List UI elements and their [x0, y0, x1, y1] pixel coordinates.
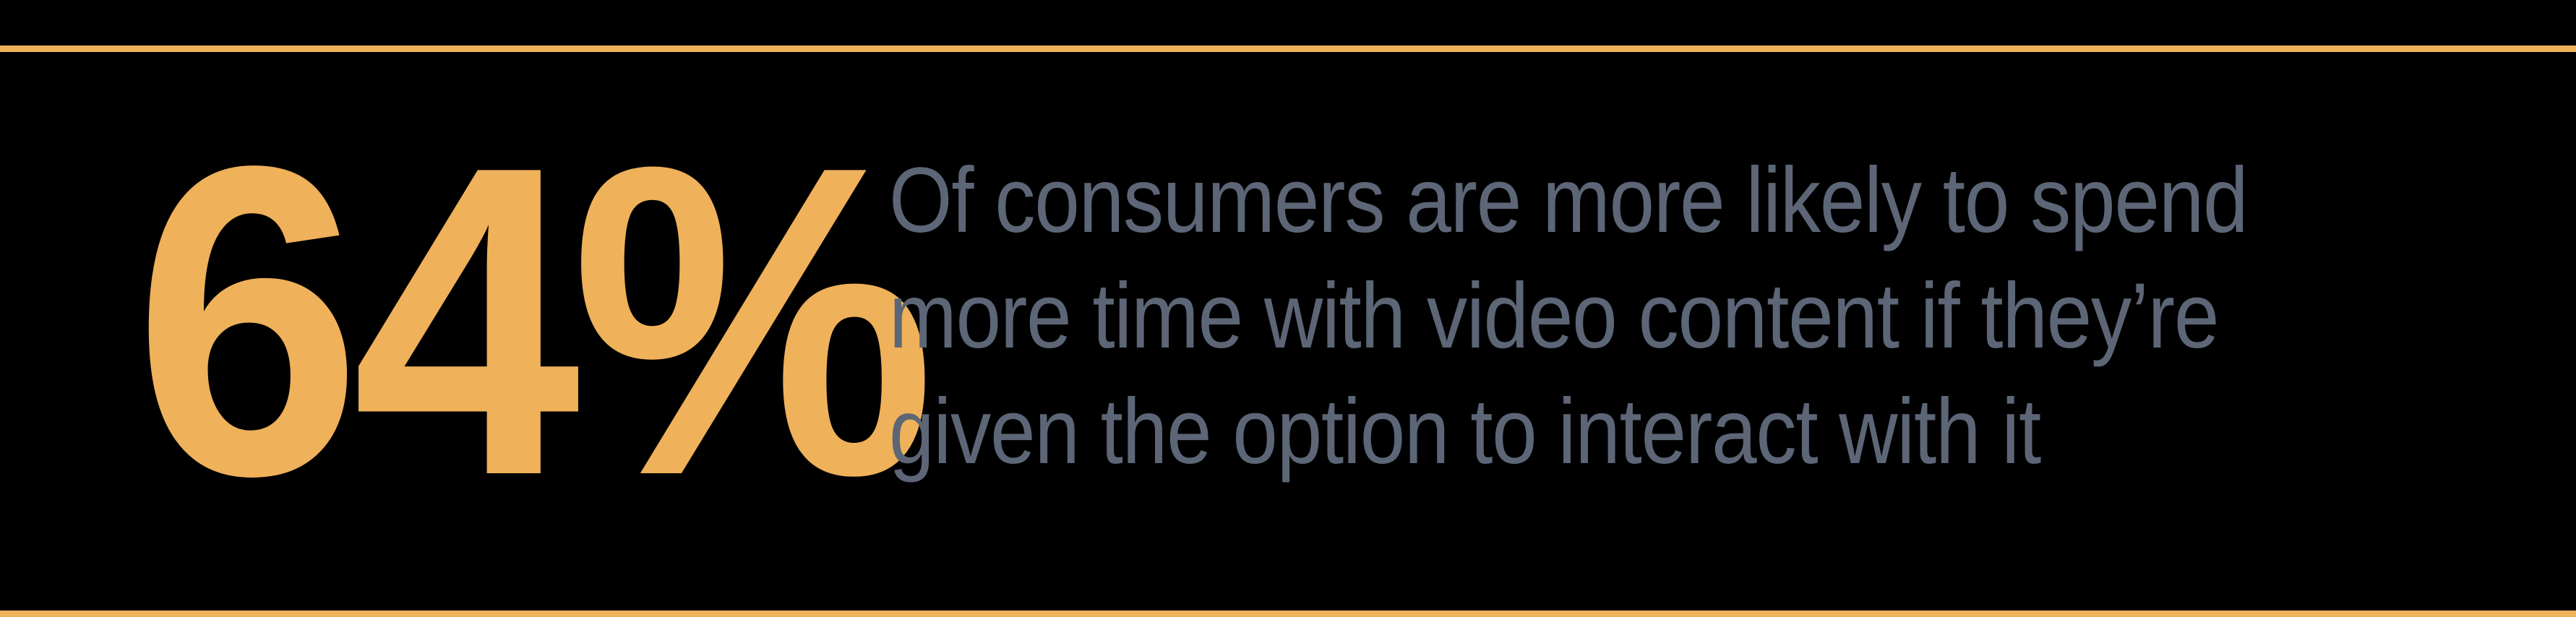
top-divider-rule: [0, 46, 2576, 52]
stat-description-line-1: Of consumers are more likely to spend: [889, 143, 2374, 259]
stat-description-line-3: given the option to interact with it: [889, 374, 2374, 490]
stat-description-container: Of consumers are more likely to spend mo…: [889, 52, 2576, 490]
stat-description-line-2: more time with video content if they’re: [889, 259, 2374, 374]
stat-figure-container: 64%: [0, 52, 889, 538]
stat-callout-card: 64% Of consumers are more likely to spen…: [0, 0, 2576, 617]
stat-figure-value: 64%: [134, 105, 926, 538]
bottom-divider-rule: [0, 610, 2576, 617]
stat-content-row: 64% Of consumers are more likely to spen…: [0, 52, 2576, 610]
